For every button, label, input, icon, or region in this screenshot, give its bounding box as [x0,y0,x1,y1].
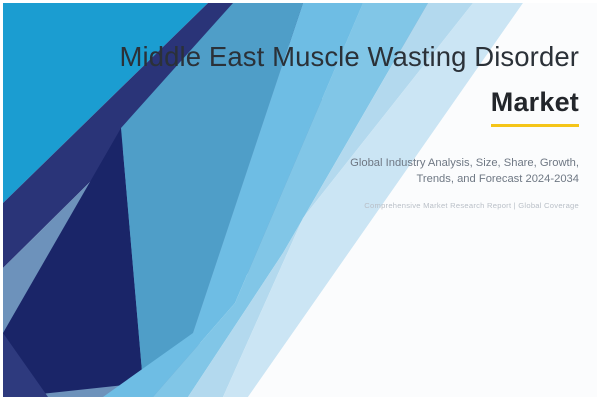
market-title-text: Market [491,87,579,117]
market-title-underline [491,124,579,127]
market-title-block: Market [491,86,579,127]
page-title: Middle East Muscle Wasting Disorder [59,41,579,73]
report-tagline: Comprehensive Market Research Report | G… [159,201,579,210]
subtitle-line-one: Global Industry Analysis, Size, Share, G… [350,157,579,169]
market-title-group: Market [59,86,579,127]
report-subtitle: Global Industry Analysis, Size, Share, G… [159,155,579,187]
cover-text-layer: Middle East Muscle Wasting Disorder Mark… [3,3,597,397]
subtitle-line-two: Trends, and Forecast 2024-2034 [416,173,579,185]
cover-canvas: Middle East Muscle Wasting Disorder Mark… [3,3,597,397]
report-cover: Middle East Muscle Wasting Disorder Mark… [0,0,600,400]
